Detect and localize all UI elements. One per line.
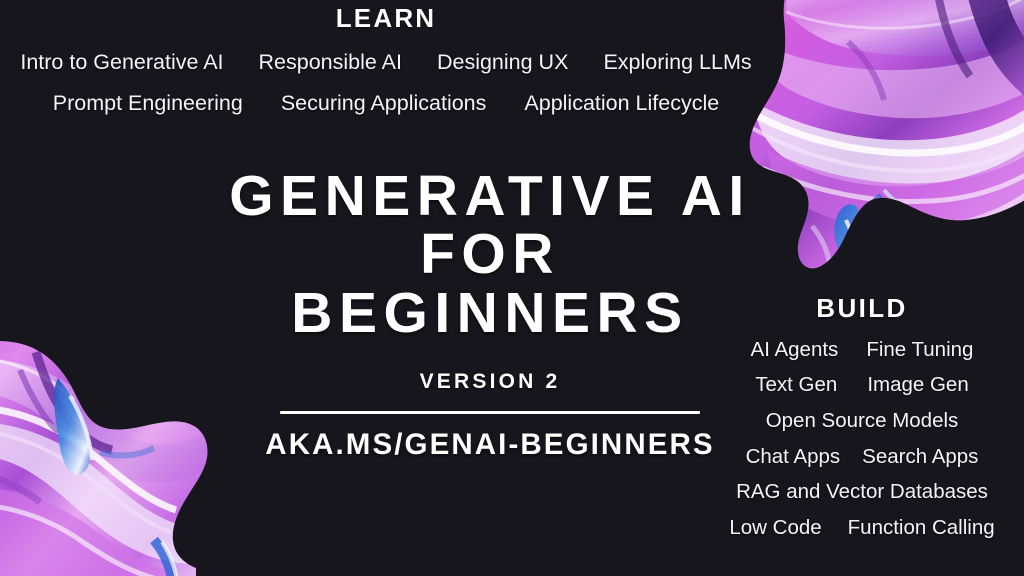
build-heading: BUILD: [700, 292, 1024, 326]
build-topic-open-source-models[interactable]: Open Source Models: [766, 408, 959, 434]
build-topic-ai-agents[interactable]: AI Agents: [751, 337, 839, 363]
build-topic-row: Open Source Models: [700, 408, 1024, 434]
build-topic-text-gen[interactable]: Text Gen: [755, 372, 837, 398]
learn-topic-row: Prompt Engineering Securing Applications…: [0, 90, 772, 117]
build-topic-low-code[interactable]: Low Code: [729, 515, 821, 541]
page-title-line-2: FOR: [0, 226, 980, 282]
learn-topic-exploring-llms[interactable]: Exploring LLMs: [603, 49, 751, 76]
learn-topic-designing-ux[interactable]: Designing UX: [437, 49, 568, 76]
horizontal-divider: [280, 411, 700, 414]
build-topic-fine-tuning[interactable]: Fine Tuning: [866, 337, 973, 363]
build-topic-function-calling[interactable]: Function Calling: [848, 515, 995, 541]
build-topic-row: Chat Apps Search Apps: [700, 444, 1024, 470]
build-section: BUILD AI Agents Fine Tuning Text Gen Ima…: [700, 292, 1024, 541]
learn-section: LEARN Intro to Generative AI Responsible…: [0, 2, 772, 117]
build-topic-rag-and-vector-databases[interactable]: RAG and Vector Databases: [736, 479, 988, 505]
learn-topic-responsible-ai[interactable]: Responsible AI: [259, 49, 402, 76]
learn-topic-row: Intro to Generative AI Responsible AI De…: [0, 49, 772, 76]
build-topic-row: Text Gen Image Gen: [700, 372, 1024, 398]
learn-heading: LEARN: [0, 2, 772, 36]
learn-topic-intro-to-generative-ai[interactable]: Intro to Generative AI: [20, 49, 223, 76]
learn-topic-application-lifecycle[interactable]: Application Lifecycle: [524, 90, 719, 117]
build-topic-image-gen[interactable]: Image Gen: [867, 372, 968, 398]
learn-topic-prompt-engineering[interactable]: Prompt Engineering: [53, 90, 243, 117]
build-topic-search-apps[interactable]: Search Apps: [862, 444, 978, 470]
build-topic-row: AI Agents Fine Tuning: [700, 337, 1024, 363]
poster-canvas: LEARN Intro to Generative AI Responsible…: [0, 0, 1024, 576]
build-topic-row: RAG and Vector Databases: [700, 479, 1024, 505]
learn-topic-securing-applications[interactable]: Securing Applications: [281, 90, 487, 117]
page-title-line-1: GENERATIVE AI: [0, 168, 980, 224]
build-topic-chat-apps[interactable]: Chat Apps: [746, 444, 841, 470]
build-topic-row: Low Code Function Calling: [700, 515, 1024, 541]
